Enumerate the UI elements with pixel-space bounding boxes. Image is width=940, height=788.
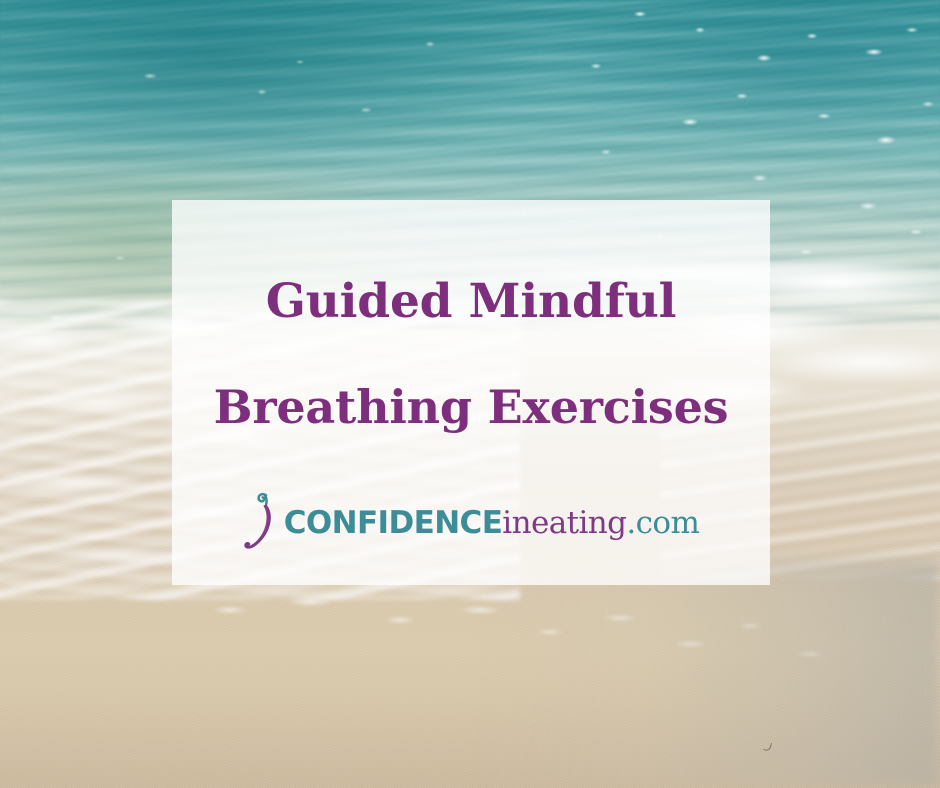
chili-pepper-icon bbox=[243, 492, 277, 554]
wordmark-tld: .com bbox=[626, 505, 699, 541]
heading-line-2: Breathing Exercises bbox=[214, 384, 729, 430]
wordmark-ineating: ineating bbox=[502, 505, 626, 541]
text-overlay-panel: Guided Mindful Breathing Exercises CONFI… bbox=[172, 200, 770, 585]
heading-line-1: Guided Mindful bbox=[266, 278, 677, 325]
brand-wordmark: CONFIDENCE ineating .com bbox=[284, 505, 700, 541]
brand-logo[interactable]: CONFIDENCE ineating .com bbox=[243, 492, 700, 554]
wordmark-confidence: CONFIDENCE bbox=[284, 505, 503, 541]
poster-canvas: Guided Mindful Breathing Exercises CONFI… bbox=[0, 0, 940, 788]
